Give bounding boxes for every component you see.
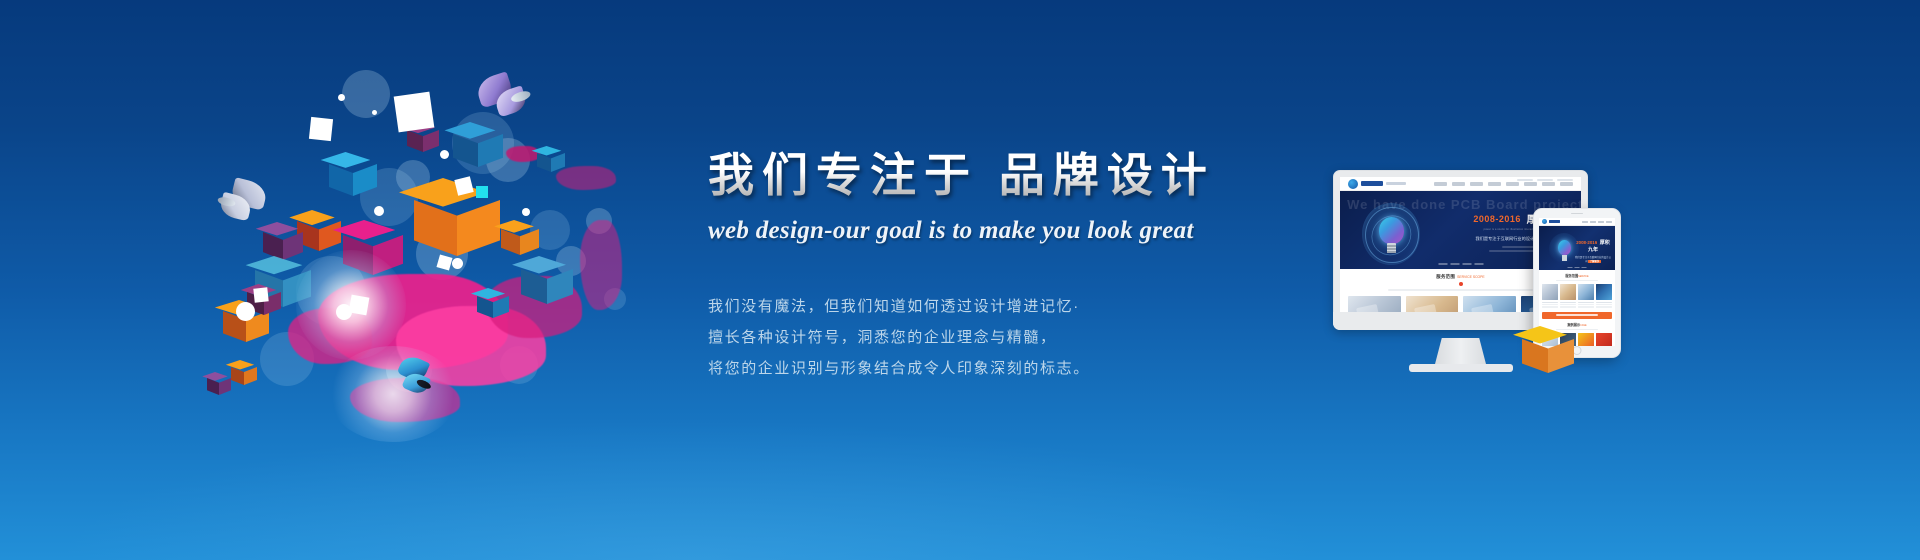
cube xyxy=(476,288,510,324)
site-menu xyxy=(1434,182,1573,186)
site-menu-item[interactable] xyxy=(1470,182,1483,186)
section-bullet xyxy=(1459,282,1463,286)
white-square xyxy=(476,186,488,198)
dot xyxy=(452,258,463,269)
site-menu-item[interactable] xyxy=(1488,182,1501,186)
light-glow xyxy=(328,346,458,442)
thumbnail-captions xyxy=(1539,305,1615,307)
cube xyxy=(452,122,504,178)
dot xyxy=(374,206,384,216)
orange-isometric-cube xyxy=(1521,326,1575,384)
site-menu-item[interactable] xyxy=(1560,182,1573,186)
phone-site-navbar xyxy=(1539,218,1615,226)
page-title: 我们专注于 品牌设计 xyxy=(708,150,1268,201)
hero-carousel-dots[interactable] xyxy=(1568,267,1587,268)
section2-title-en: CASE xyxy=(1580,324,1587,327)
white-square xyxy=(253,287,268,302)
body-copy: 我们没有魔法，但我们知道如何透过设计增进记忆· 擅长各种设计符号，洞悉您的企业理… xyxy=(708,291,1268,384)
hero-cta-badge[interactable]: 了解更多 xyxy=(1588,260,1601,263)
thumbnail-item[interactable] xyxy=(1406,296,1459,312)
site-logo-subtext xyxy=(1386,182,1406,185)
abstract-artwork xyxy=(200,60,680,460)
phone-cta-bar[interactable] xyxy=(1542,312,1612,319)
site-topbar-contact xyxy=(1517,179,1573,182)
butterfly-icon xyxy=(203,172,268,230)
phone-site-hero: 2008-2016 厚积九年 我们是专注于互联网行业的设计公司 了解更多 xyxy=(1539,226,1615,270)
section-title-en: SERVICE SCOPE xyxy=(1457,275,1485,279)
device-mockups: We have done PCB Board project 2008-2016… xyxy=(1325,160,1665,400)
cube-left-face xyxy=(1522,339,1548,373)
phone-hero-copy: 2008-2016 厚积九年 我们是专注于互联网行业的设计公司 了解更多 xyxy=(1575,239,1611,263)
bulb-base xyxy=(1562,255,1567,261)
body-line: 擅长各种设计符号，洞悉您的企业理念与精髓， xyxy=(708,322,1268,353)
site-menu-item[interactable] xyxy=(1524,182,1537,186)
case-card[interactable] xyxy=(1596,333,1612,346)
thumbnail-item[interactable] xyxy=(1542,284,1558,300)
dot xyxy=(372,110,377,115)
dot xyxy=(440,150,449,159)
white-square xyxy=(394,92,435,133)
case-card[interactable] xyxy=(1578,333,1594,346)
site-menu-item[interactable] xyxy=(1542,182,1555,186)
section-title: 服务范围 xyxy=(1436,274,1455,280)
white-square xyxy=(309,117,333,141)
thumbnail-item[interactable] xyxy=(1348,296,1401,312)
site-logo-text xyxy=(1361,181,1383,186)
body-line: 我们没有魔法，但我们知道如何透过设计增进记忆· xyxy=(708,291,1268,322)
bulb-glass xyxy=(1379,217,1404,244)
section-title-en: SERVICE xyxy=(1578,275,1588,278)
hero-carousel-dots[interactable] xyxy=(1438,263,1483,265)
site-logo-icon xyxy=(1542,219,1547,224)
lightbulb-graphic xyxy=(1362,203,1420,265)
hero-years: 2008-2016 xyxy=(1473,214,1521,224)
cube-right-face xyxy=(1548,339,1574,373)
cube xyxy=(328,152,378,206)
thumbnail-item[interactable] xyxy=(1463,296,1516,312)
cube xyxy=(230,360,258,390)
bulb-base xyxy=(1387,243,1396,253)
cube xyxy=(206,372,232,400)
hero-years: 2008-2016 xyxy=(1576,240,1597,245)
paint-splatter xyxy=(506,146,540,162)
site-menu-item[interactable] xyxy=(1452,182,1465,186)
hero-subtext: 我们是专注于互联网行业的设计公司 了解更多 xyxy=(1575,255,1611,263)
thumbnail-item[interactable] xyxy=(1578,284,1594,300)
site-menu-item[interactable] xyxy=(1506,182,1519,186)
thumbnail-item[interactable] xyxy=(1560,284,1576,300)
section-title: 服务范围 xyxy=(1565,274,1578,278)
dot xyxy=(236,302,255,321)
phone-thumbnail-grid xyxy=(1539,281,1615,300)
monitor-stand-neck xyxy=(1435,338,1487,366)
cube xyxy=(536,146,566,178)
phone-section-header: 服务范围SERVICE xyxy=(1539,270,1615,281)
site-logo-icon xyxy=(1348,179,1358,189)
page-subtitle: web design-our goal is to make you look … xyxy=(708,217,1268,245)
thumbnail-item[interactable] xyxy=(1596,284,1612,300)
dot xyxy=(522,208,530,216)
bubble xyxy=(342,70,390,118)
bulb-glass xyxy=(1558,240,1571,255)
site-menu-item[interactable] xyxy=(1434,182,1447,186)
dot xyxy=(338,94,345,101)
cube xyxy=(520,256,574,314)
light-glow xyxy=(296,250,406,360)
paint-splatter xyxy=(580,220,622,310)
site-logo-text xyxy=(1549,220,1560,223)
site-navbar xyxy=(1340,177,1581,191)
monitor-stand-base xyxy=(1409,364,1513,372)
hero-copy-block: 我们专注于 品牌设计 web design-our goal is to mak… xyxy=(708,150,1268,384)
phone-site-menu[interactable] xyxy=(1582,221,1612,223)
hero-banner: 我们专注于 品牌设计 web design-our goal is to mak… xyxy=(0,0,1920,560)
body-line: 将您的企业识别与形象结合成令人印象深刻的标志。 xyxy=(708,353,1268,384)
dot xyxy=(322,122,326,126)
